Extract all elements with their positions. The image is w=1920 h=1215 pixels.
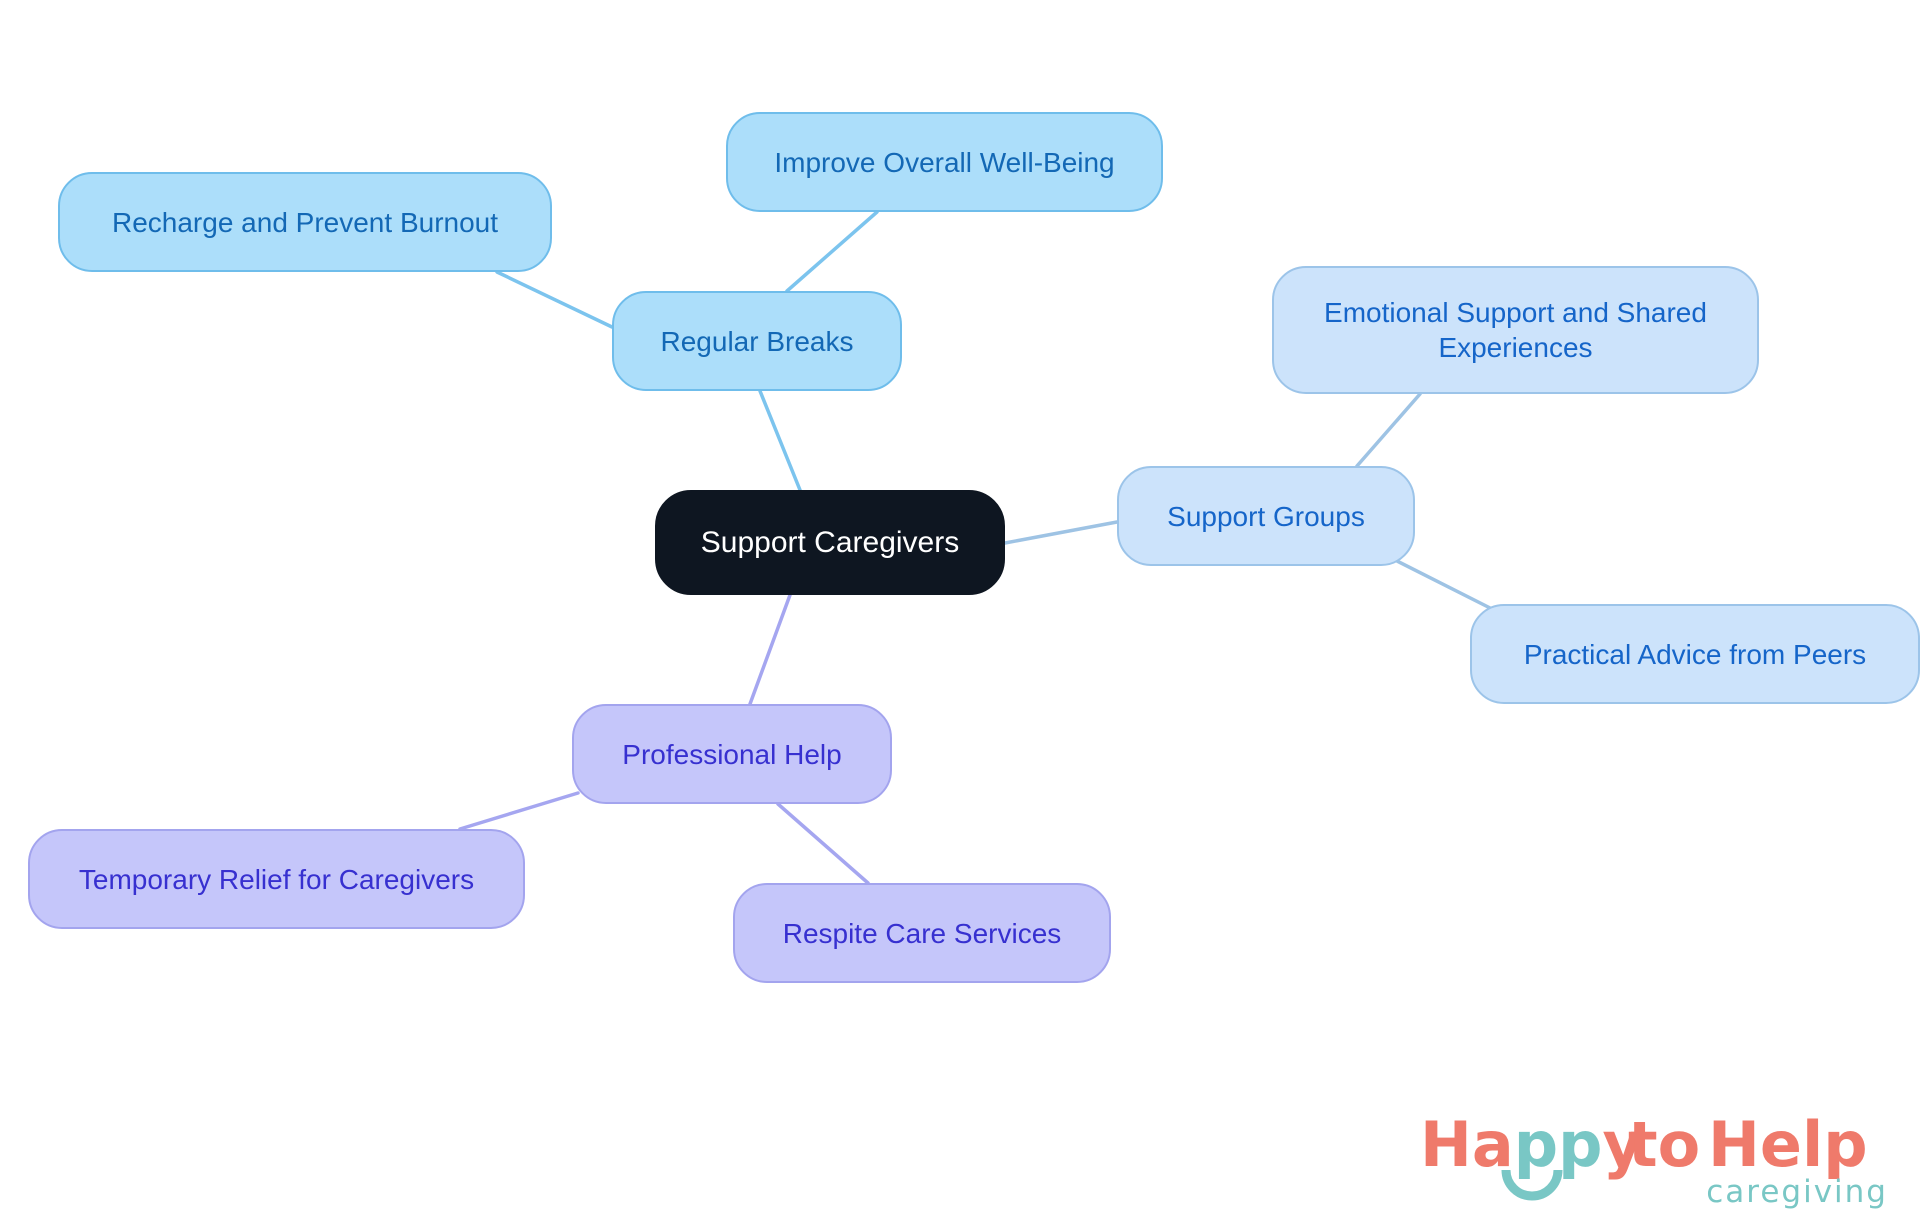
node-respite-care-services[interactable]: Respite Care Services (733, 883, 1111, 983)
happy-to-help-logo: Happy to Help caregiving (1420, 1098, 1890, 1210)
edge-support-groups-to-emotional (1357, 394, 1420, 466)
node-label: Professional Help (622, 737, 841, 772)
node-support-groups[interactable]: Support Groups (1117, 466, 1415, 566)
logo-tagline: caregiving (1706, 1174, 1888, 1210)
edge-regular-breaks-to-improve (787, 212, 877, 291)
node-label: Emotional Support and Shared Experiences (1324, 295, 1707, 365)
node-label: Recharge and Prevent Burnout (112, 205, 498, 240)
edge-regular-breaks-to-recharge (497, 272, 612, 327)
edge-support-groups-to-practical (1395, 560, 1500, 613)
edge-root-to-professional-help (750, 595, 790, 704)
node-label: Support Groups (1167, 499, 1365, 534)
logo-word-happy: Happy (1420, 1108, 1643, 1181)
edge-root-to-regular-breaks (760, 391, 800, 490)
logo-word-help: Help (1708, 1108, 1868, 1181)
node-label: Temporary Relief for Caregivers (79, 862, 474, 897)
node-support-caregivers[interactable]: Support Caregivers (655, 490, 1005, 595)
node-label: Support Caregivers (701, 524, 959, 562)
logo-word-to: to (1628, 1108, 1700, 1181)
node-temporary-relief-for-caregivers[interactable]: Temporary Relief for Caregivers (28, 829, 525, 929)
node-practical-advice-from-peers[interactable]: Practical Advice from Peers (1470, 604, 1920, 704)
node-label: Regular Breaks (661, 324, 854, 359)
node-label: Improve Overall Well-Being (774, 145, 1114, 180)
node-recharge-and-prevent-burnout[interactable]: Recharge and Prevent Burnout (58, 172, 552, 272)
node-regular-breaks[interactable]: Regular Breaks (612, 291, 902, 391)
node-improve-overall-well-being[interactable]: Improve Overall Well-Being (726, 112, 1163, 212)
node-label: Practical Advice from Peers (1524, 637, 1866, 672)
edge-professional-help-to-respite (778, 804, 868, 883)
mindmap-canvas: Support Caregivers Regular Breaks Improv… (0, 0, 1920, 1215)
edge-professional-help-to-temporary (460, 793, 578, 829)
node-label: Respite Care Services (783, 916, 1062, 951)
node-emotional-support-and-shared-experiences[interactable]: Emotional Support and Shared Experiences (1272, 266, 1759, 394)
edge-root-to-support-groups (1005, 522, 1117, 543)
node-professional-help[interactable]: Professional Help (572, 704, 892, 804)
